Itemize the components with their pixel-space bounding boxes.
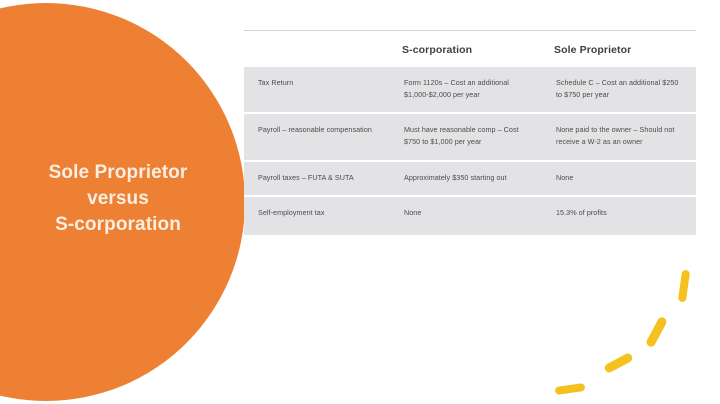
cell-payroll-compensation-s-corporation: Must have reasonable comp – Cost $750 to…: [394, 113, 546, 160]
table-row: Payroll taxes – FUTA & SUTA Approximatel…: [244, 161, 696, 197]
cell-self-employment-tax-s-corporation: None: [394, 196, 546, 235]
column-header-sole-proprietor: Sole Proprietor: [546, 31, 696, 67]
row-label-payroll-taxes: Payroll taxes – FUTA & SUTA: [244, 161, 394, 197]
cell-tax-return-s-corporation: Form 1120s – Cost an additional $1,000-$…: [394, 67, 546, 113]
row-label-payroll-compensation: Payroll – reasonable compensation: [244, 113, 394, 160]
arc-dash-1: [678, 270, 690, 303]
comparison-table: S-corporation Sole Proprietor Tax Return…: [244, 31, 696, 235]
cell-payroll-taxes-s-corporation: Approximately $350 starting out: [394, 161, 546, 197]
column-header-category: [244, 31, 394, 67]
slide-title-line-1: Sole Proprietor: [0, 160, 236, 186]
arc-dash-3: [603, 352, 634, 374]
table-row: Payroll – reasonable compensation Must h…: [244, 113, 696, 160]
cell-payroll-taxes-sole-proprietor: None: [546, 161, 696, 197]
slide-title-line-2: versus: [0, 186, 236, 212]
cell-payroll-compensation-sole-proprietor: None paid to the owner – Should not rece…: [546, 113, 696, 160]
cell-tax-return-sole-proprietor: Schedule C – Cost an additional $250 to …: [546, 67, 696, 113]
slide-title: Sole Proprietor versus S-corporation: [0, 160, 236, 239]
comparison-table-container: S-corporation Sole Proprietor Tax Return…: [244, 30, 696, 235]
table-row: Self-employment tax None 15.3% of profit…: [244, 196, 696, 235]
table-header-row: S-corporation Sole Proprietor: [244, 31, 696, 67]
slide-title-line-3: S-corporation: [0, 212, 236, 238]
row-label-tax-return: Tax Return: [244, 67, 394, 113]
slide-canvas: Sole Proprietor versus S-corporation S-c…: [0, 0, 720, 404]
dashed-arc-decoration: [552, 264, 712, 400]
cell-self-employment-tax-sole-proprietor: 15.3% of profits: [546, 196, 696, 235]
row-label-self-employment-tax: Self-employment tax: [244, 196, 394, 235]
arc-dash-4: [555, 383, 586, 395]
column-header-s-corporation: S-corporation: [394, 31, 546, 67]
table-row: Tax Return Form 1120s – Cost an addition…: [244, 67, 696, 113]
arc-dash-2: [645, 316, 668, 348]
